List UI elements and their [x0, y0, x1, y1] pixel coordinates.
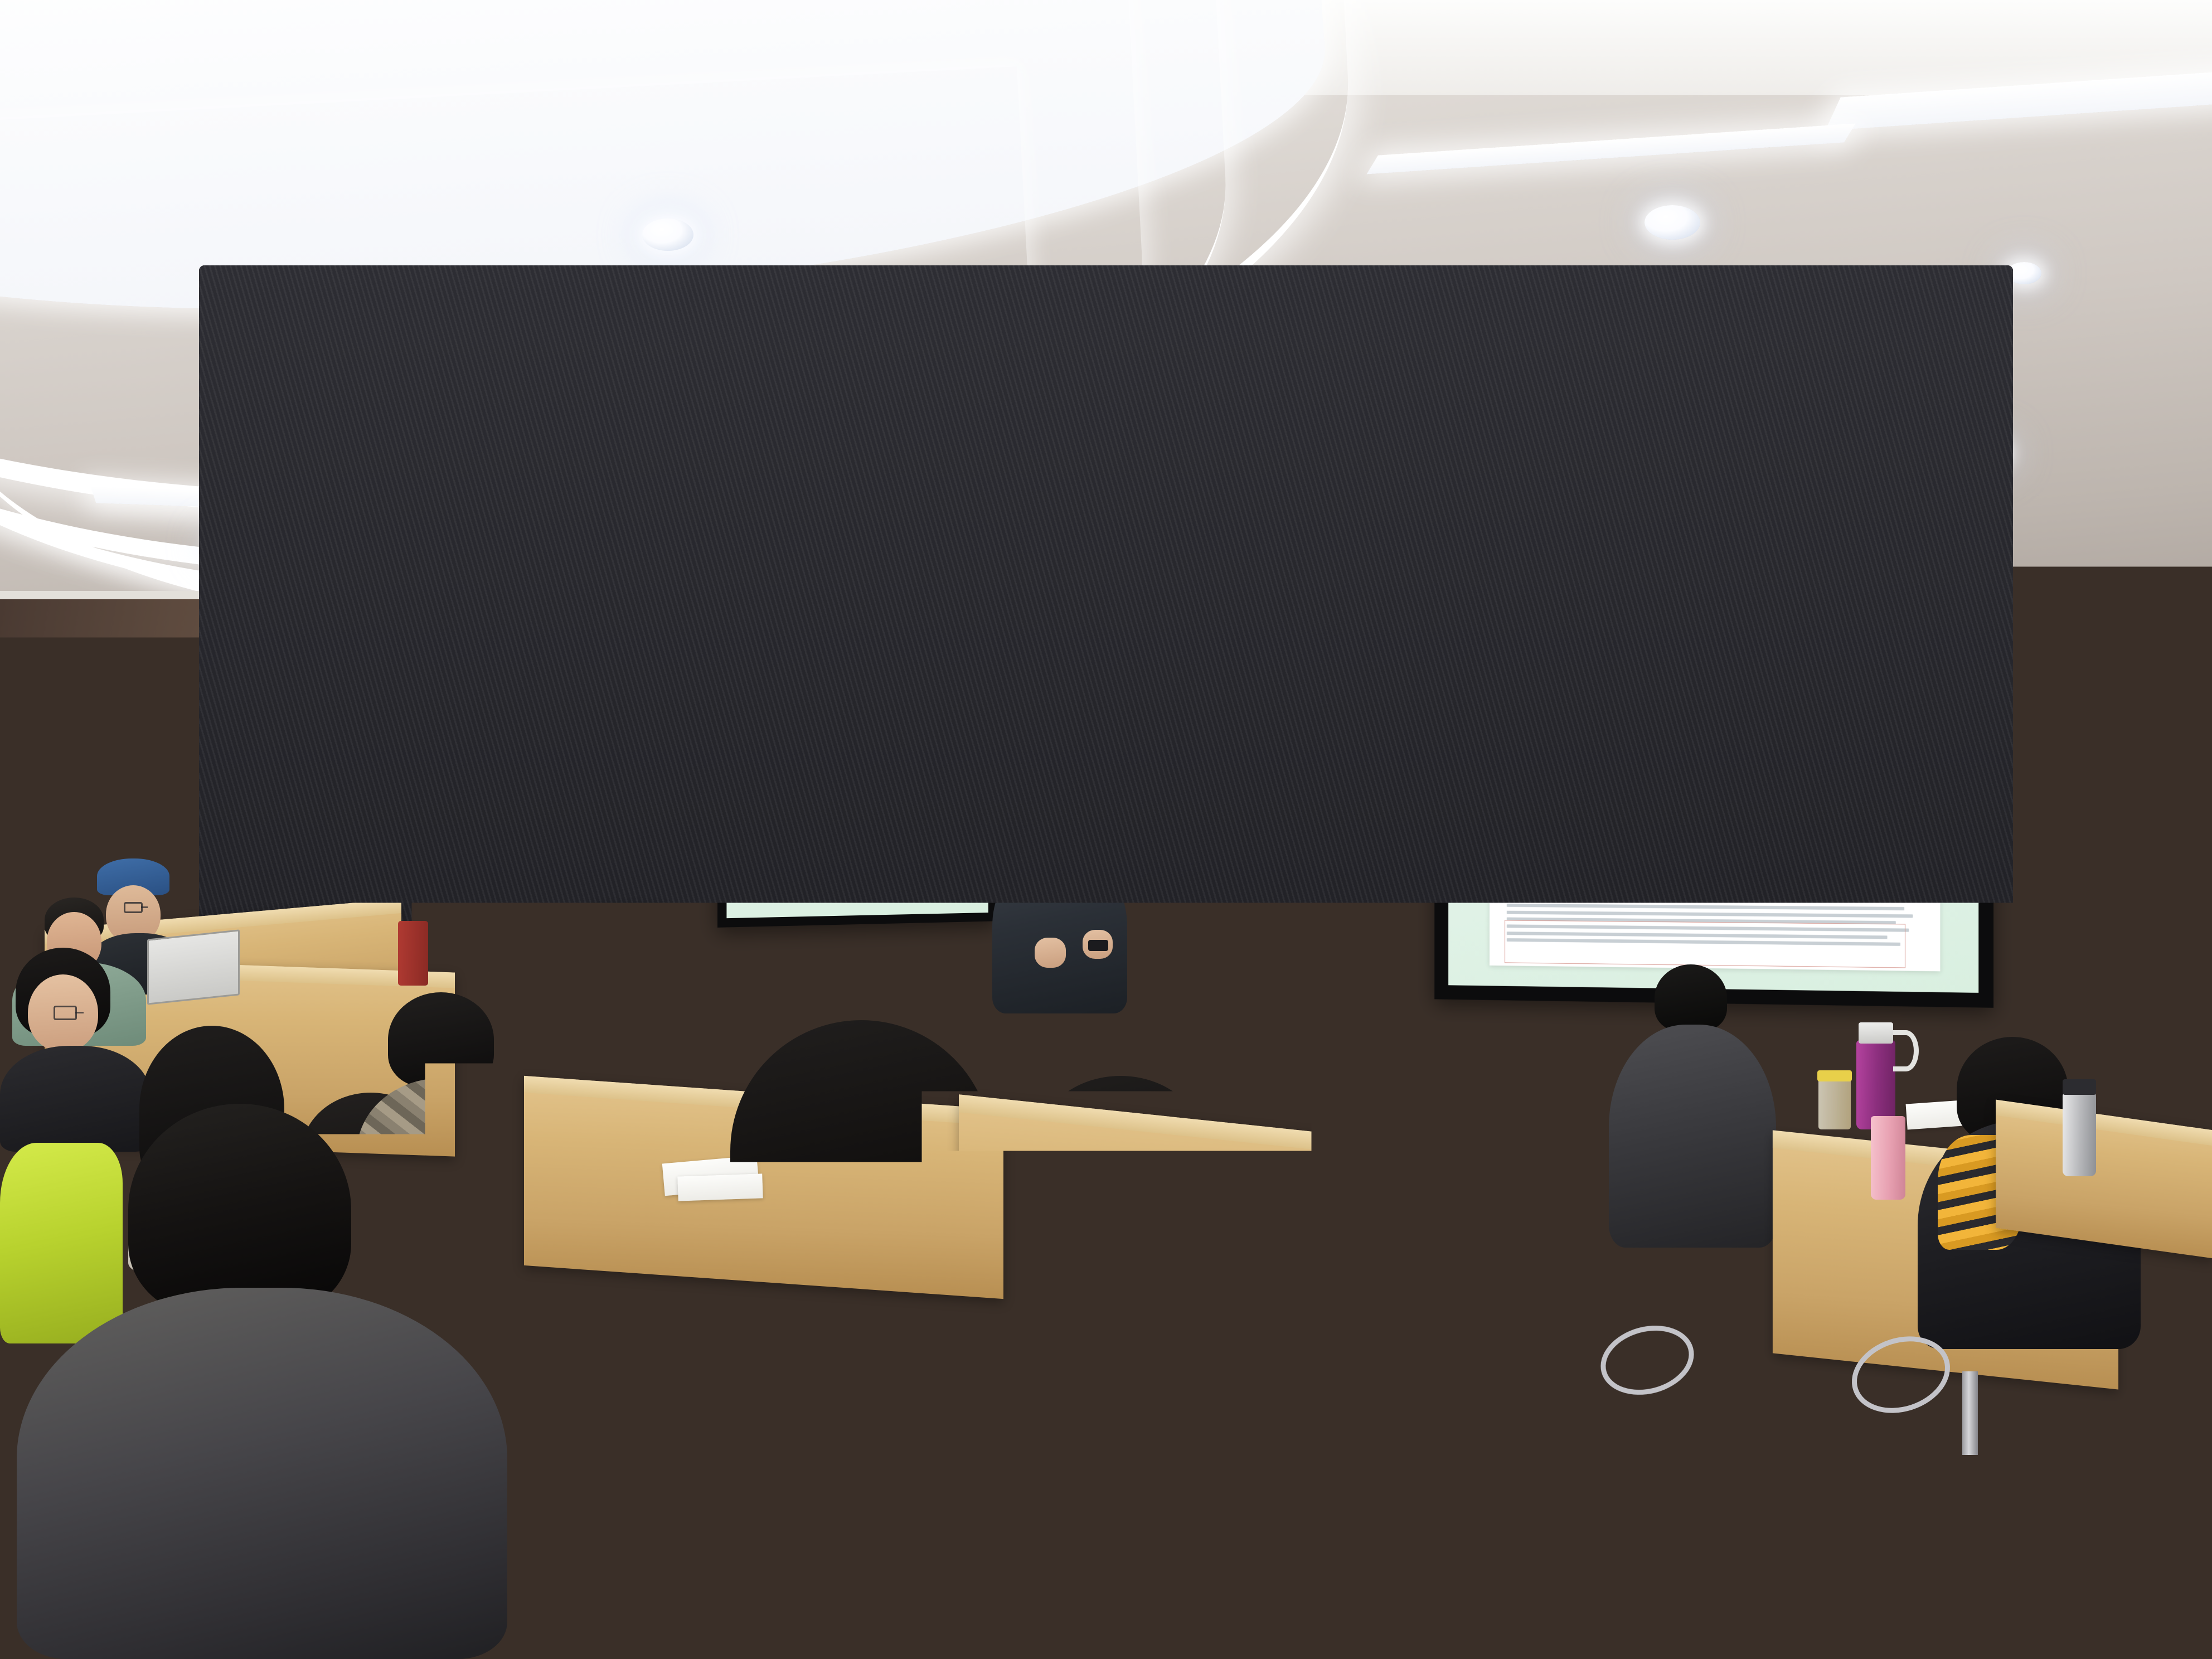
- thermos-silver-right: [2063, 1093, 2096, 1176]
- thermos-silver-cap: [2063, 1079, 2096, 1095]
- jacket-print-line-2: EXCELLENT: [496, 1444, 1098, 1519]
- lecture-hall-scene: R450160 1514 一、研究思路——研究背景 国家重大战略需求、国际前沿问…: [0, 0, 2212, 1659]
- downlight-1: [642, 219, 693, 251]
- jacket-print-line-1: [DISOUT]: [518, 1377, 1120, 1455]
- downlight-2: [1645, 205, 1700, 240]
- chair-mesh-back: [199, 265, 2013, 1360]
- left-wall-dark-panel-2: [0, 641, 100, 931]
- attendee-glasses-spectacles: [54, 1006, 77, 1020]
- stage-side-chair[interactable]: [591, 903, 667, 1031]
- chair-base-stem-right-1: [1962, 1371, 1978, 1455]
